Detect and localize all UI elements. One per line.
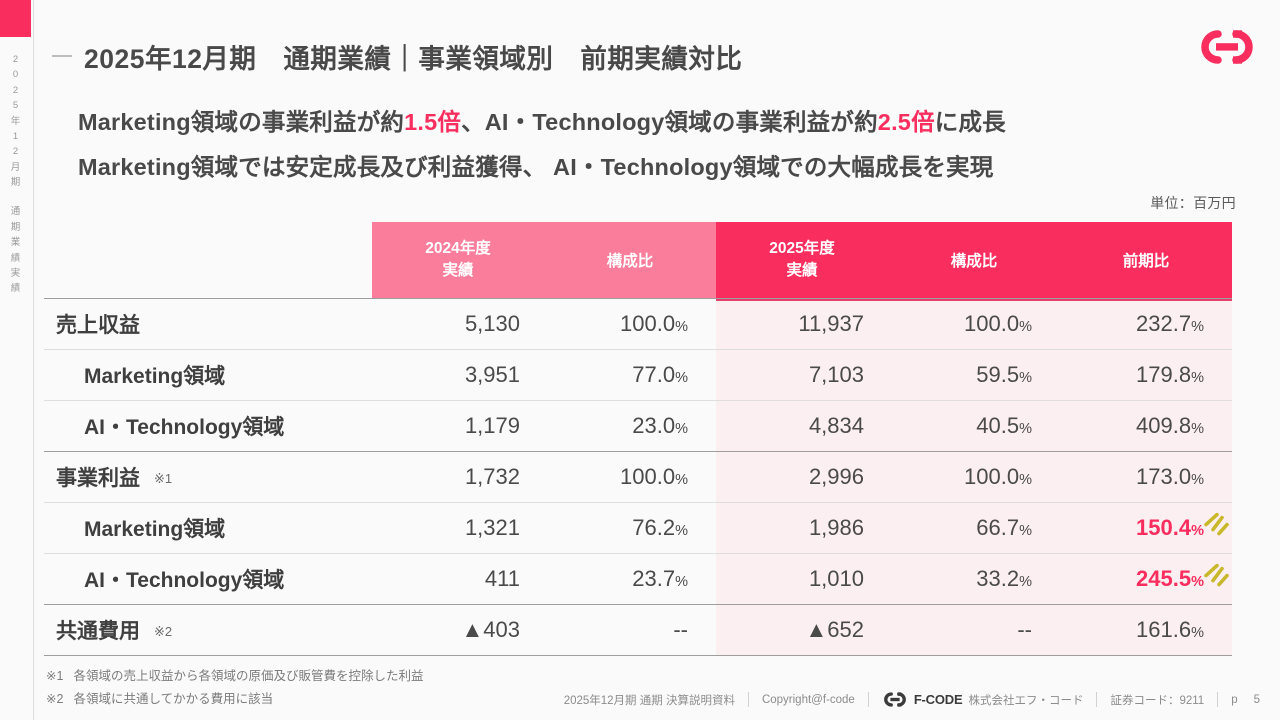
table-cell: 1,321 — [372, 502, 544, 553]
rail-char: 通 — [11, 204, 21, 219]
f-code-link-logo-icon — [1196, 27, 1258, 67]
rail-char: 期 — [11, 175, 21, 190]
rail-char: 業 — [11, 235, 21, 250]
header-ratio2024: 構成比 — [544, 222, 716, 298]
table-cell: ▲403 — [372, 604, 544, 655]
rail-char: 績 — [11, 281, 21, 296]
subtitle-seg: 、AI・Technology領域の事業利益が約 — [461, 109, 878, 135]
table-cell: 411 — [372, 553, 544, 604]
rail-char: 実 — [11, 266, 21, 281]
table-cell: 4,834 — [716, 400, 888, 451]
financial-table: 2024年度 実績 構成比 2025年度 実績 構成比 前期比 売上収益5,13… — [44, 222, 1232, 656]
rail-char: 2 — [13, 52, 18, 67]
table-row: Marketing領域3,95177.0%7,10359.5%179.8% — [44, 349, 1232, 400]
table-cell: 77.0% — [544, 349, 716, 400]
slide-header: 2025年12月期 通期業績｜事業領域別 前期実績対比 — [52, 33, 1232, 79]
row-note-mark: ※1 — [154, 471, 172, 486]
f-code-link-logo-icon — [882, 691, 908, 708]
rail-accent-block — [0, 0, 31, 37]
table-cell: 100.0% — [544, 451, 716, 502]
footer-page-label: p — [1218, 694, 1243, 706]
table-cell: -- — [888, 604, 1060, 655]
table-cell: 1,986 — [716, 502, 888, 553]
rail-char: 績 — [11, 251, 21, 266]
rail-char: 2 — [13, 144, 18, 159]
footer-company: 株式会社エフ・コード — [968, 692, 1083, 708]
header-fy2025: 2025年度 実績 — [716, 222, 888, 298]
header-ratio2025: 構成比 — [888, 222, 1060, 298]
table-cell: 23.0% — [544, 400, 716, 451]
footnote-text: 各領域に共通してかかる費用に該当 — [73, 692, 273, 706]
table-row: 売上収益5,130100.0%11,937100.0%232.7% — [44, 298, 1232, 349]
footer-doc-title: 2025年12月期 通期 決算説明資料 — [551, 692, 748, 708]
footer-brand: F-CODE 株式会社エフ・コード — [869, 691, 1097, 708]
rail-char: 0 — [13, 67, 18, 82]
table-header: 2024年度 実績 構成比 2025年度 実績 構成比 前期比 — [44, 222, 1232, 298]
table-cell: 5,130 — [372, 298, 544, 349]
sparkle-icon — [1200, 558, 1234, 592]
sparkle-icon — [1200, 507, 1234, 541]
table-cell: 40.5% — [888, 400, 1060, 451]
left-rail: 2 0 2 5 年 1 2 月 期 通 期 業 績 実 績 — [0, 0, 34, 720]
table-cell: 23.7% — [544, 553, 716, 604]
table-cell: 11,937 — [716, 298, 888, 349]
table-body: 売上収益5,130100.0%11,937100.0%232.7%Marketi… — [44, 298, 1232, 655]
table-cell: 66.7% — [888, 502, 1060, 553]
table-cell: 161.6% — [1060, 604, 1232, 655]
footer-bar: 2025年12月期 通期 決算説明資料 Copyright@f-code F-C… — [551, 691, 1260, 708]
table-cell: 1,179 — [372, 400, 544, 451]
table-row: AI・Technology領域41123.7%1,01033.2%245.5% — [44, 553, 1232, 604]
header-yoy: 前期比 — [1060, 222, 1232, 298]
footer-security-code: 証券コード：9211 — [1097, 692, 1217, 708]
rail-char: 1 — [13, 129, 18, 144]
row-label: Marketing領域 — [44, 502, 372, 553]
table-cell: 76.2% — [544, 502, 716, 553]
rail-char: 期 — [11, 220, 21, 235]
row-note-mark: ※2 — [154, 624, 172, 639]
table-cell: 1,732 — [372, 451, 544, 502]
table-cell: 59.5% — [888, 349, 1060, 400]
financial-table-wrapper: 2024年度 実績 構成比 2025年度 実績 構成比 前期比 売上収益5,13… — [44, 222, 1232, 656]
footnote-item: ※2各領域に共通してかかる費用に該当 — [46, 688, 606, 711]
table-row: AI・Technology領域1,17923.0%4,83440.5%409.8… — [44, 400, 1232, 451]
rail-char: 年 — [11, 114, 21, 129]
table-cell: 2,996 — [716, 451, 888, 502]
table-cell: 100.0% — [888, 451, 1060, 502]
row-label: AI・Technology領域 — [44, 400, 372, 451]
rail-char: 2 — [13, 83, 18, 98]
table-cell: 100.0% — [544, 298, 716, 349]
table-cell: 409.8% — [1060, 400, 1232, 451]
header-fy2024: 2024年度 実績 — [372, 222, 544, 298]
table-cell: 173.0% — [1060, 451, 1232, 502]
table-cell: -- — [544, 604, 716, 655]
row-label: AI・Technology領域 — [44, 553, 372, 604]
table-row: 事業利益※11,732100.0%2,996100.0%173.0% — [44, 451, 1232, 502]
subtitle-line-2: Marketing領域では安定成長及び利益獲得、 AI・Technology領域… — [78, 145, 1258, 190]
rail-char: 5 — [13, 98, 18, 113]
table-cell: 100.0% — [888, 298, 1060, 349]
title-dash-icon — [52, 55, 72, 57]
table-header-row: 2024年度 実績 構成比 2025年度 実績 構成比 前期比 — [44, 222, 1232, 298]
footer-copyright: Copyright@f-code — [749, 694, 868, 706]
footnote-mark: ※1 — [46, 669, 63, 683]
footnote-item: ※1各領域の売上収益から各領域の原価及び販管費を控除した利益 — [46, 665, 606, 688]
table-cell: ▲652 — [716, 604, 888, 655]
row-label: 共通費用※2 — [44, 604, 372, 655]
footer-page-number: 5 — [1244, 694, 1260, 706]
table-row: 共通費用※2▲403--▲652--161.6% — [44, 604, 1232, 655]
table-cell: 7,103 — [716, 349, 888, 400]
unit-note: 単位：百万円 — [1150, 193, 1236, 213]
subtitle-block: Marketing領域の事業利益が約1.5倍、AI・Technology領域の事… — [78, 100, 1258, 190]
footnote-mark: ※2 — [46, 692, 63, 706]
footer-brand-name: F-CODE — [914, 692, 963, 707]
subtitle-highlight-2: 2.5倍 — [878, 109, 935, 135]
table-cell: 179.8% — [1060, 349, 1232, 400]
header-spacer — [44, 222, 372, 298]
table-cell: 3,951 — [372, 349, 544, 400]
row-label: Marketing領域 — [44, 349, 372, 400]
rail-char: 月 — [11, 160, 21, 175]
table-cell: 150.4% — [1060, 502, 1232, 553]
table-cell: 1,010 — [716, 553, 888, 604]
table-cell: 232.7% — [1060, 298, 1232, 349]
subtitle-seg: Marketing領域の事業利益が約 — [78, 109, 404, 135]
table-row: Marketing領域1,32176.2%1,98666.7%150.4% — [44, 502, 1232, 553]
subtitle-line-1: Marketing領域の事業利益が約1.5倍、AI・Technology領域の事… — [78, 100, 1258, 145]
subtitle-highlight-1: 1.5倍 — [404, 109, 461, 135]
table-cell: 33.2% — [888, 553, 1060, 604]
page-title: 2025年12月期 通期業績｜事業領域別 前期実績対比 — [84, 37, 742, 76]
table-cell: 245.5% — [1060, 553, 1232, 604]
subtitle-seg: に成長 — [935, 109, 1006, 135]
rail-vertical-title: 2 0 2 5 年 1 2 月 期 通 期 業 績 実 績 — [0, 52, 31, 297]
footnotes: ※1各領域の売上収益から各領域の原価及び販管費を控除した利益 ※2各領域に共通し… — [46, 665, 606, 711]
footnote-text: 各領域の売上収益から各領域の原価及び販管費を控除した利益 — [73, 669, 423, 683]
row-label: 事業利益※1 — [44, 451, 372, 502]
row-label: 売上収益 — [44, 298, 372, 349]
